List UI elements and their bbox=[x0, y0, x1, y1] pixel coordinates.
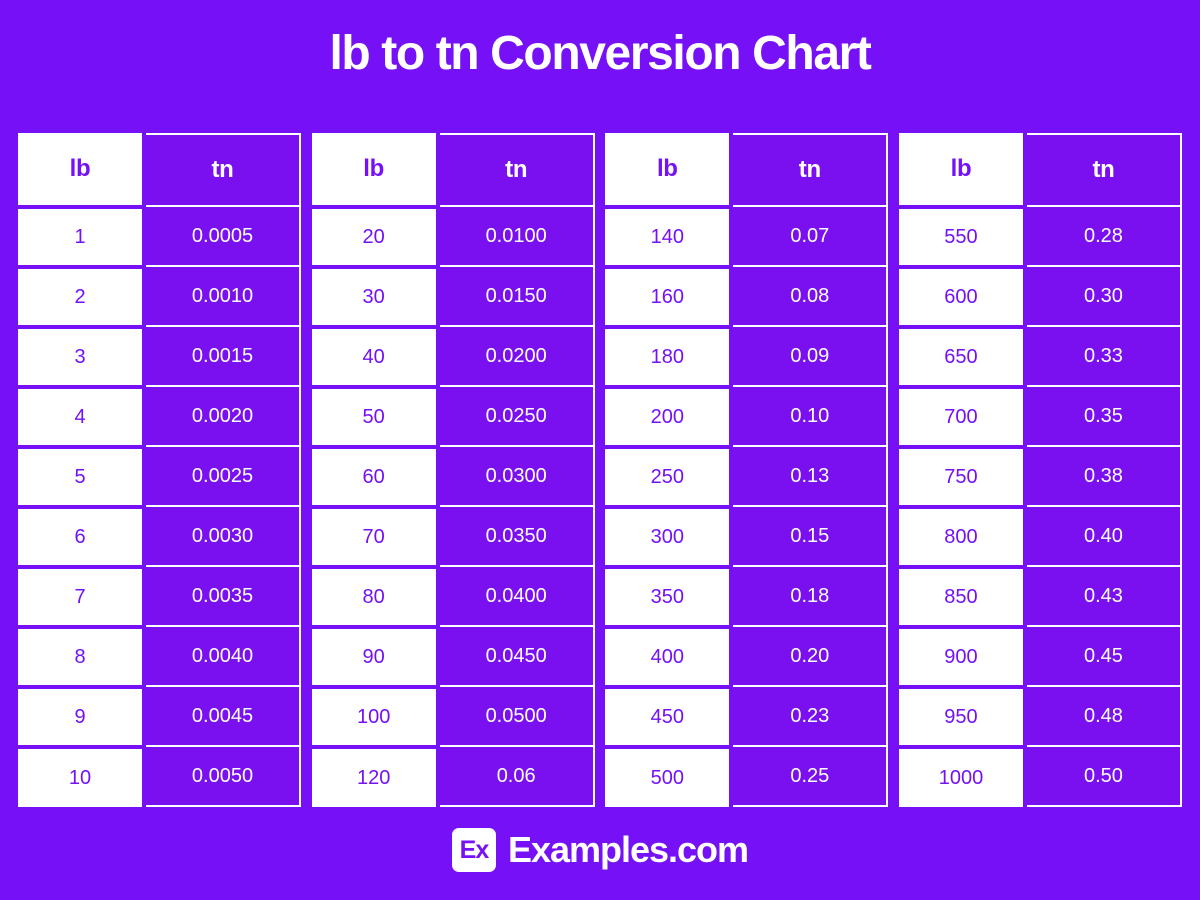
table-row: 1200.06 bbox=[312, 747, 595, 807]
table-row: 1400.07 bbox=[605, 207, 888, 267]
cell-lb-value: 30 bbox=[312, 267, 436, 327]
cell-lb-value: 60 bbox=[312, 447, 436, 507]
cell-lb-value: 1 bbox=[18, 207, 142, 267]
table-row: 3000.15 bbox=[605, 507, 888, 567]
cell-tn-value: 0.48 bbox=[1027, 687, 1182, 747]
cell-tn-value: 0.0035 bbox=[146, 567, 301, 627]
cell-lb-value: 20 bbox=[312, 207, 436, 267]
cell-tn-value: 0.0015 bbox=[146, 327, 301, 387]
examples-logo-icon: Ex bbox=[452, 828, 496, 872]
cell-tn-value: 0.10 bbox=[733, 387, 888, 447]
cell-lb-value: 80 bbox=[312, 567, 436, 627]
table-row: 600.0300 bbox=[312, 447, 595, 507]
column-header-tn: tn bbox=[146, 133, 301, 207]
cell-tn-value: 0.0005 bbox=[146, 207, 301, 267]
cell-tn-value: 0.23 bbox=[733, 687, 888, 747]
table-row: 1000.0500 bbox=[312, 687, 595, 747]
cell-tn-value: 0.18 bbox=[733, 567, 888, 627]
cell-tn-value: 0.0350 bbox=[440, 507, 595, 567]
table-header-row: lbtn bbox=[899, 133, 1182, 207]
cell-tn-value: 0.0450 bbox=[440, 627, 595, 687]
table-row: 8500.43 bbox=[899, 567, 1182, 627]
table-row: 60.0030 bbox=[18, 507, 301, 567]
table-row: 70.0035 bbox=[18, 567, 301, 627]
cell-lb-value: 400 bbox=[605, 627, 729, 687]
column-header-lb: lb bbox=[605, 133, 729, 207]
table-row: 300.0150 bbox=[312, 267, 595, 327]
table-row: 100.0050 bbox=[18, 747, 301, 807]
cell-lb-value: 750 bbox=[899, 447, 1023, 507]
footer-branding: Ex Examples.com bbox=[0, 828, 1200, 872]
cell-tn-value: 0.0200 bbox=[440, 327, 595, 387]
cell-tn-value: 0.07 bbox=[733, 207, 888, 267]
conversion-chart-page: lb to tn Conversion Chart lbtn10.000520.… bbox=[0, 0, 1200, 900]
cell-tn-value: 0.0040 bbox=[146, 627, 301, 687]
cell-lb-value: 50 bbox=[312, 387, 436, 447]
column-header-tn: tn bbox=[440, 133, 595, 207]
table-row: 1600.08 bbox=[605, 267, 888, 327]
table-row: 500.0250 bbox=[312, 387, 595, 447]
cell-lb-value: 600 bbox=[899, 267, 1023, 327]
cell-tn-value: 0.20 bbox=[733, 627, 888, 687]
cell-lb-value: 550 bbox=[899, 207, 1023, 267]
cell-tn-value: 0.0400 bbox=[440, 567, 595, 627]
table-row: 80.0040 bbox=[18, 627, 301, 687]
cell-lb-value: 160 bbox=[605, 267, 729, 327]
table-row: 10.0005 bbox=[18, 207, 301, 267]
table-row: 3500.18 bbox=[605, 567, 888, 627]
cell-tn-value: 0.43 bbox=[1027, 567, 1182, 627]
cell-lb-value: 120 bbox=[312, 747, 436, 807]
cell-lb-value: 100 bbox=[312, 687, 436, 747]
table-row: 4000.20 bbox=[605, 627, 888, 687]
cell-lb-value: 900 bbox=[899, 627, 1023, 687]
cell-tn-value: 0.0050 bbox=[146, 747, 301, 807]
cell-lb-value: 2 bbox=[18, 267, 142, 327]
table-row: 7000.35 bbox=[899, 387, 1182, 447]
cell-lb-value: 650 bbox=[899, 327, 1023, 387]
column-header-lb: lb bbox=[312, 133, 436, 207]
table-row: 6000.30 bbox=[899, 267, 1182, 327]
cell-lb-value: 7 bbox=[18, 567, 142, 627]
cell-lb-value: 3 bbox=[18, 327, 142, 387]
cell-tn-value: 0.38 bbox=[1027, 447, 1182, 507]
column-header-tn: tn bbox=[733, 133, 888, 207]
cell-tn-value: 0.50 bbox=[1027, 747, 1182, 807]
cell-tn-value: 0.25 bbox=[733, 747, 888, 807]
table-row: 200.0100 bbox=[312, 207, 595, 267]
table-row: 800.0400 bbox=[312, 567, 595, 627]
cell-tn-value: 0.33 bbox=[1027, 327, 1182, 387]
cell-tn-value: 0.0500 bbox=[440, 687, 595, 747]
cell-lb-value: 450 bbox=[605, 687, 729, 747]
cell-tn-value: 0.0100 bbox=[440, 207, 595, 267]
column-header-lb: lb bbox=[899, 133, 1023, 207]
table-row: 7500.38 bbox=[899, 447, 1182, 507]
table-row: 2000.10 bbox=[605, 387, 888, 447]
cell-lb-value: 8 bbox=[18, 627, 142, 687]
brand-name: Examples.com bbox=[508, 832, 748, 868]
cell-tn-value: 0.35 bbox=[1027, 387, 1182, 447]
cell-tn-value: 0.15 bbox=[733, 507, 888, 567]
table-row: 50.0025 bbox=[18, 447, 301, 507]
cell-tn-value: 0.08 bbox=[733, 267, 888, 327]
cell-lb-value: 500 bbox=[605, 747, 729, 807]
cell-lb-value: 90 bbox=[312, 627, 436, 687]
table-row: 9500.48 bbox=[899, 687, 1182, 747]
cell-lb-value: 350 bbox=[605, 567, 729, 627]
cell-lb-value: 4 bbox=[18, 387, 142, 447]
cell-tn-value: 0.0020 bbox=[146, 387, 301, 447]
cell-tn-value: 0.0045 bbox=[146, 687, 301, 747]
table-row: 5500.28 bbox=[899, 207, 1182, 267]
cell-lb-value: 6 bbox=[18, 507, 142, 567]
cell-lb-value: 70 bbox=[312, 507, 436, 567]
cell-tn-value: 0.40 bbox=[1027, 507, 1182, 567]
table-row: 9000.45 bbox=[899, 627, 1182, 687]
table-row: 5000.25 bbox=[605, 747, 888, 807]
table-row: 900.0450 bbox=[312, 627, 595, 687]
table-row: 20.0010 bbox=[18, 267, 301, 327]
cell-lb-value: 10 bbox=[18, 747, 142, 807]
table-header-row: lbtn bbox=[18, 133, 301, 207]
cell-tn-value: 0.06 bbox=[440, 747, 595, 807]
cell-lb-value: 950 bbox=[899, 687, 1023, 747]
table-header-row: lbtn bbox=[605, 133, 888, 207]
table-row: 6500.33 bbox=[899, 327, 1182, 387]
table-header-row: lbtn bbox=[312, 133, 595, 207]
cell-tn-value: 0.0250 bbox=[440, 387, 595, 447]
column-header-lb: lb bbox=[18, 133, 142, 207]
cell-lb-value: 140 bbox=[605, 207, 729, 267]
table-row: 400.0200 bbox=[312, 327, 595, 387]
cell-lb-value: 9 bbox=[18, 687, 142, 747]
cell-lb-value: 300 bbox=[605, 507, 729, 567]
table-row: 30.0015 bbox=[18, 327, 301, 387]
cell-tn-value: 0.45 bbox=[1027, 627, 1182, 687]
table-row: 700.0350 bbox=[312, 507, 595, 567]
cell-tn-value: 0.28 bbox=[1027, 207, 1182, 267]
page-title: lb to tn Conversion Chart bbox=[0, 30, 1200, 78]
table-row: 8000.40 bbox=[899, 507, 1182, 567]
table-row: 4500.23 bbox=[605, 687, 888, 747]
table-row: 40.0020 bbox=[18, 387, 301, 447]
cell-lb-value: 250 bbox=[605, 447, 729, 507]
cell-tn-value: 0.0030 bbox=[146, 507, 301, 567]
cell-tn-value: 0.0300 bbox=[440, 447, 595, 507]
conversion-table: lbtn5500.286000.306500.337000.357500.388… bbox=[899, 133, 1182, 805]
cell-tn-value: 0.0010 bbox=[146, 267, 301, 327]
cell-lb-value: 1000 bbox=[899, 747, 1023, 807]
cell-lb-value: 800 bbox=[899, 507, 1023, 567]
table-row: 2500.13 bbox=[605, 447, 888, 507]
cell-lb-value: 5 bbox=[18, 447, 142, 507]
tables-container: lbtn10.000520.001030.001540.002050.00256… bbox=[18, 133, 1182, 805]
table-row: 1800.09 bbox=[605, 327, 888, 387]
cell-lb-value: 40 bbox=[312, 327, 436, 387]
cell-lb-value: 850 bbox=[899, 567, 1023, 627]
cell-tn-value: 0.0025 bbox=[146, 447, 301, 507]
column-header-tn: tn bbox=[1027, 133, 1182, 207]
cell-lb-value: 180 bbox=[605, 327, 729, 387]
cell-tn-value: 0.13 bbox=[733, 447, 888, 507]
cell-lb-value: 700 bbox=[899, 387, 1023, 447]
cell-tn-value: 0.09 bbox=[733, 327, 888, 387]
cell-lb-value: 200 bbox=[605, 387, 729, 447]
table-row: 90.0045 bbox=[18, 687, 301, 747]
conversion-table: lbtn1400.071600.081800.092000.102500.133… bbox=[605, 133, 888, 805]
conversion-table: lbtn200.0100300.0150400.0200500.0250600.… bbox=[312, 133, 595, 805]
table-row: 10000.50 bbox=[899, 747, 1182, 807]
conversion-table: lbtn10.000520.001030.001540.002050.00256… bbox=[18, 133, 301, 805]
cell-tn-value: 0.30 bbox=[1027, 267, 1182, 327]
cell-tn-value: 0.0150 bbox=[440, 267, 595, 327]
